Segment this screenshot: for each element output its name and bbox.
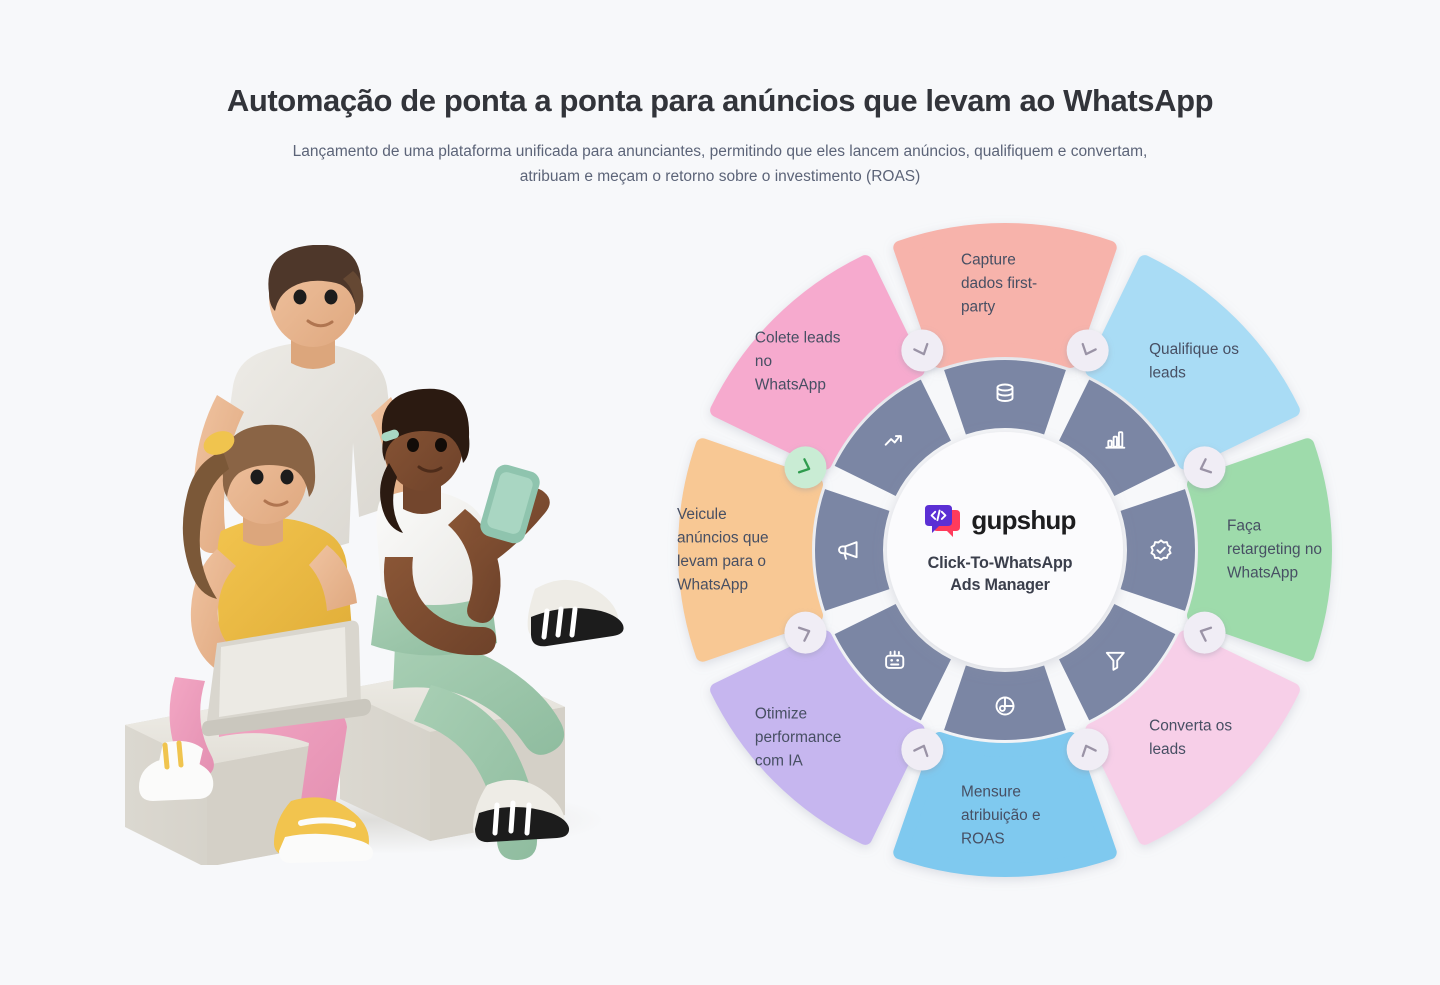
wheel-hub: gupshup Click-To-WhatsApp Ads Manager: [890, 440, 1110, 660]
hub-title: Click-To-WhatsApp Ads Manager: [928, 552, 1073, 597]
wheel-step-node-2[interactable]: [1184, 446, 1226, 488]
code-chat-bubble-icon: [924, 504, 962, 538]
page-header: Automação de ponta a ponta para anúncios…: [0, 82, 1440, 189]
gupshup-logo: gupshup: [924, 504, 1075, 538]
brand-name: gupshup: [971, 505, 1075, 536]
hub-title-line-2: Ads Manager: [928, 574, 1073, 596]
page-subtitle: Lançamento de uma plataforma unificada p…: [190, 139, 1250, 189]
wheel-step-node-1[interactable]: [1067, 329, 1109, 371]
people-illustration: [95, 245, 655, 865]
page-subtitle-line-1: Lançamento de uma plataforma unificada p…: [190, 139, 1250, 164]
wheel-step-node-7[interactable]: [784, 446, 826, 488]
page-subtitle-line-2: atribuam e meçam o retorno sobre o inves…: [190, 164, 1250, 189]
wheel-step-node-4[interactable]: [1067, 729, 1109, 771]
wheel-step-node-3[interactable]: [1184, 612, 1226, 654]
hub-title-line-1: Click-To-WhatsApp: [928, 552, 1073, 574]
page-title: Automação de ponta a ponta para anúncios…: [0, 82, 1440, 119]
wheel-step-node-5[interactable]: [901, 729, 943, 771]
wheel-inner-ring-7: [815, 489, 889, 611]
wheel-inner-ring-1: [944, 360, 1066, 434]
wheel-step-node-6[interactable]: [784, 612, 826, 654]
wheel-step-node-8[interactable]: [901, 329, 943, 371]
